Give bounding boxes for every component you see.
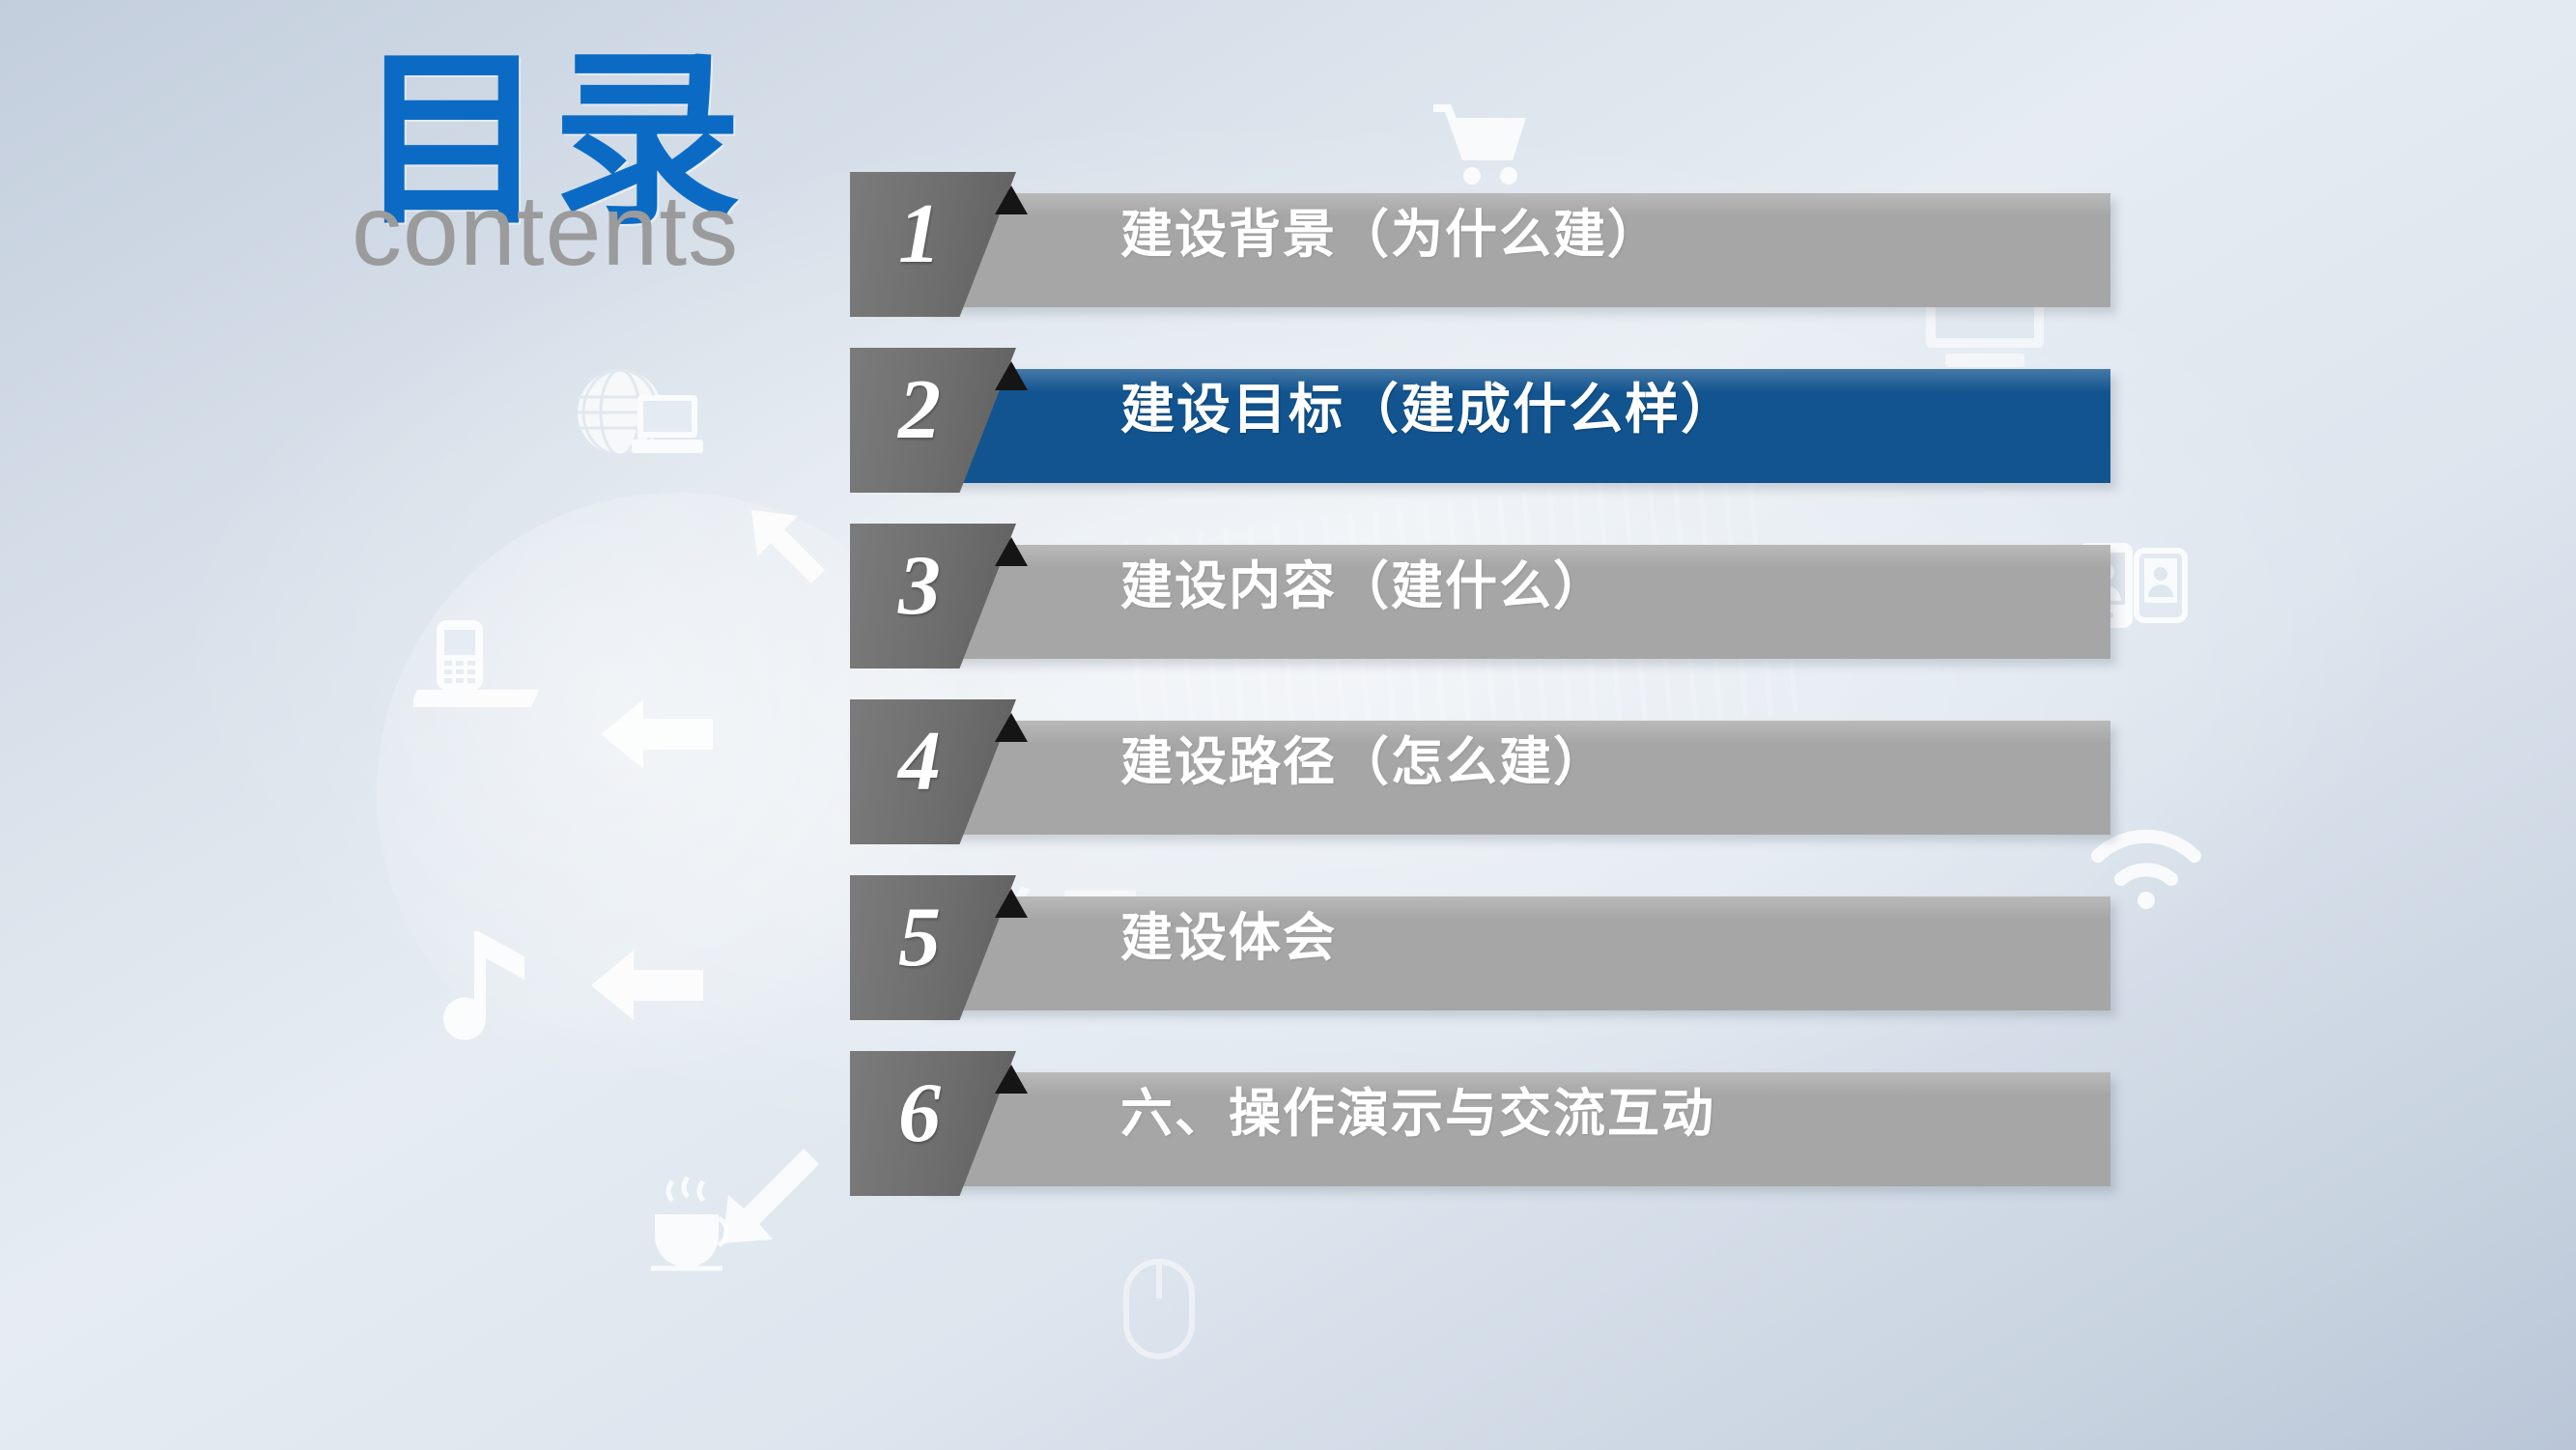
contents-item-1[interactable]: 建设背景（为什么建）1 — [850, 172, 2110, 348]
triangle-notch-icon — [995, 889, 1028, 918]
arrow-down-left-icon — [715, 1135, 831, 1251]
page-title-en: contents — [352, 174, 748, 289]
triangle-notch-icon — [995, 537, 1028, 566]
arrow-left-icon-2 — [589, 947, 705, 1024]
contents-item-number: 5 — [898, 889, 941, 986]
contents-item-label: 建设体会 — [1120, 875, 1337, 989]
contents-item-bar — [922, 896, 2110, 1010]
contents-item-number: 1 — [898, 185, 941, 283]
contents-item-label: 六、操作演示与交流互动 — [1120, 1051, 1715, 1165]
music-note-icon — [439, 927, 541, 1048]
contents-item-label: 建设目标（建成什么样） — [1120, 348, 1737, 462]
contents-item-number: 3 — [898, 537, 941, 635]
contents-item-6[interactable]: 六、操作演示与交流互动6 — [850, 1051, 2110, 1235]
triangle-notch-icon — [995, 361, 1028, 390]
triangle-notch-icon — [995, 185, 1028, 214]
contents-item-number: 4 — [898, 713, 941, 810]
contents-list: 建设背景（为什么建）1建设目标（建成什么样）2建设内容（建什么）3建设路径（怎么… — [850, 172, 2110, 1235]
cordless-phone-icon — [413, 618, 544, 710]
contents-item-number: 2 — [898, 361, 941, 459]
contents-item-4[interactable]: 建设路径（怎么建）4 — [850, 699, 2110, 875]
contents-item-label: 建设路径（怎么建） — [1120, 699, 1607, 813]
contents-item-label: 建设内容（建什么） — [1120, 524, 1607, 638]
mouse-icon — [1120, 1256, 1198, 1362]
arrow-left-icon-1 — [599, 696, 715, 773]
arrow-up-left-icon — [744, 502, 850, 609]
triangle-notch-icon — [995, 713, 1028, 742]
slide-title-block: 目录 contents — [357, 46, 748, 289]
contents-item-2[interactable]: 建设目标（建成什么样）2 — [850, 348, 2110, 524]
contents-item-label: 建设背景（为什么建） — [1120, 172, 1661, 286]
contents-item-5[interactable]: 建设体会5 — [850, 875, 2110, 1051]
triangle-notch-icon — [995, 1065, 1028, 1094]
coffee-cup-icon — [637, 1174, 744, 1280]
globe-laptop-icon — [570, 362, 705, 473]
contents-item-number: 6 — [898, 1065, 941, 1162]
contents-item-3[interactable]: 建设内容（建什么）3 — [850, 524, 2110, 699]
